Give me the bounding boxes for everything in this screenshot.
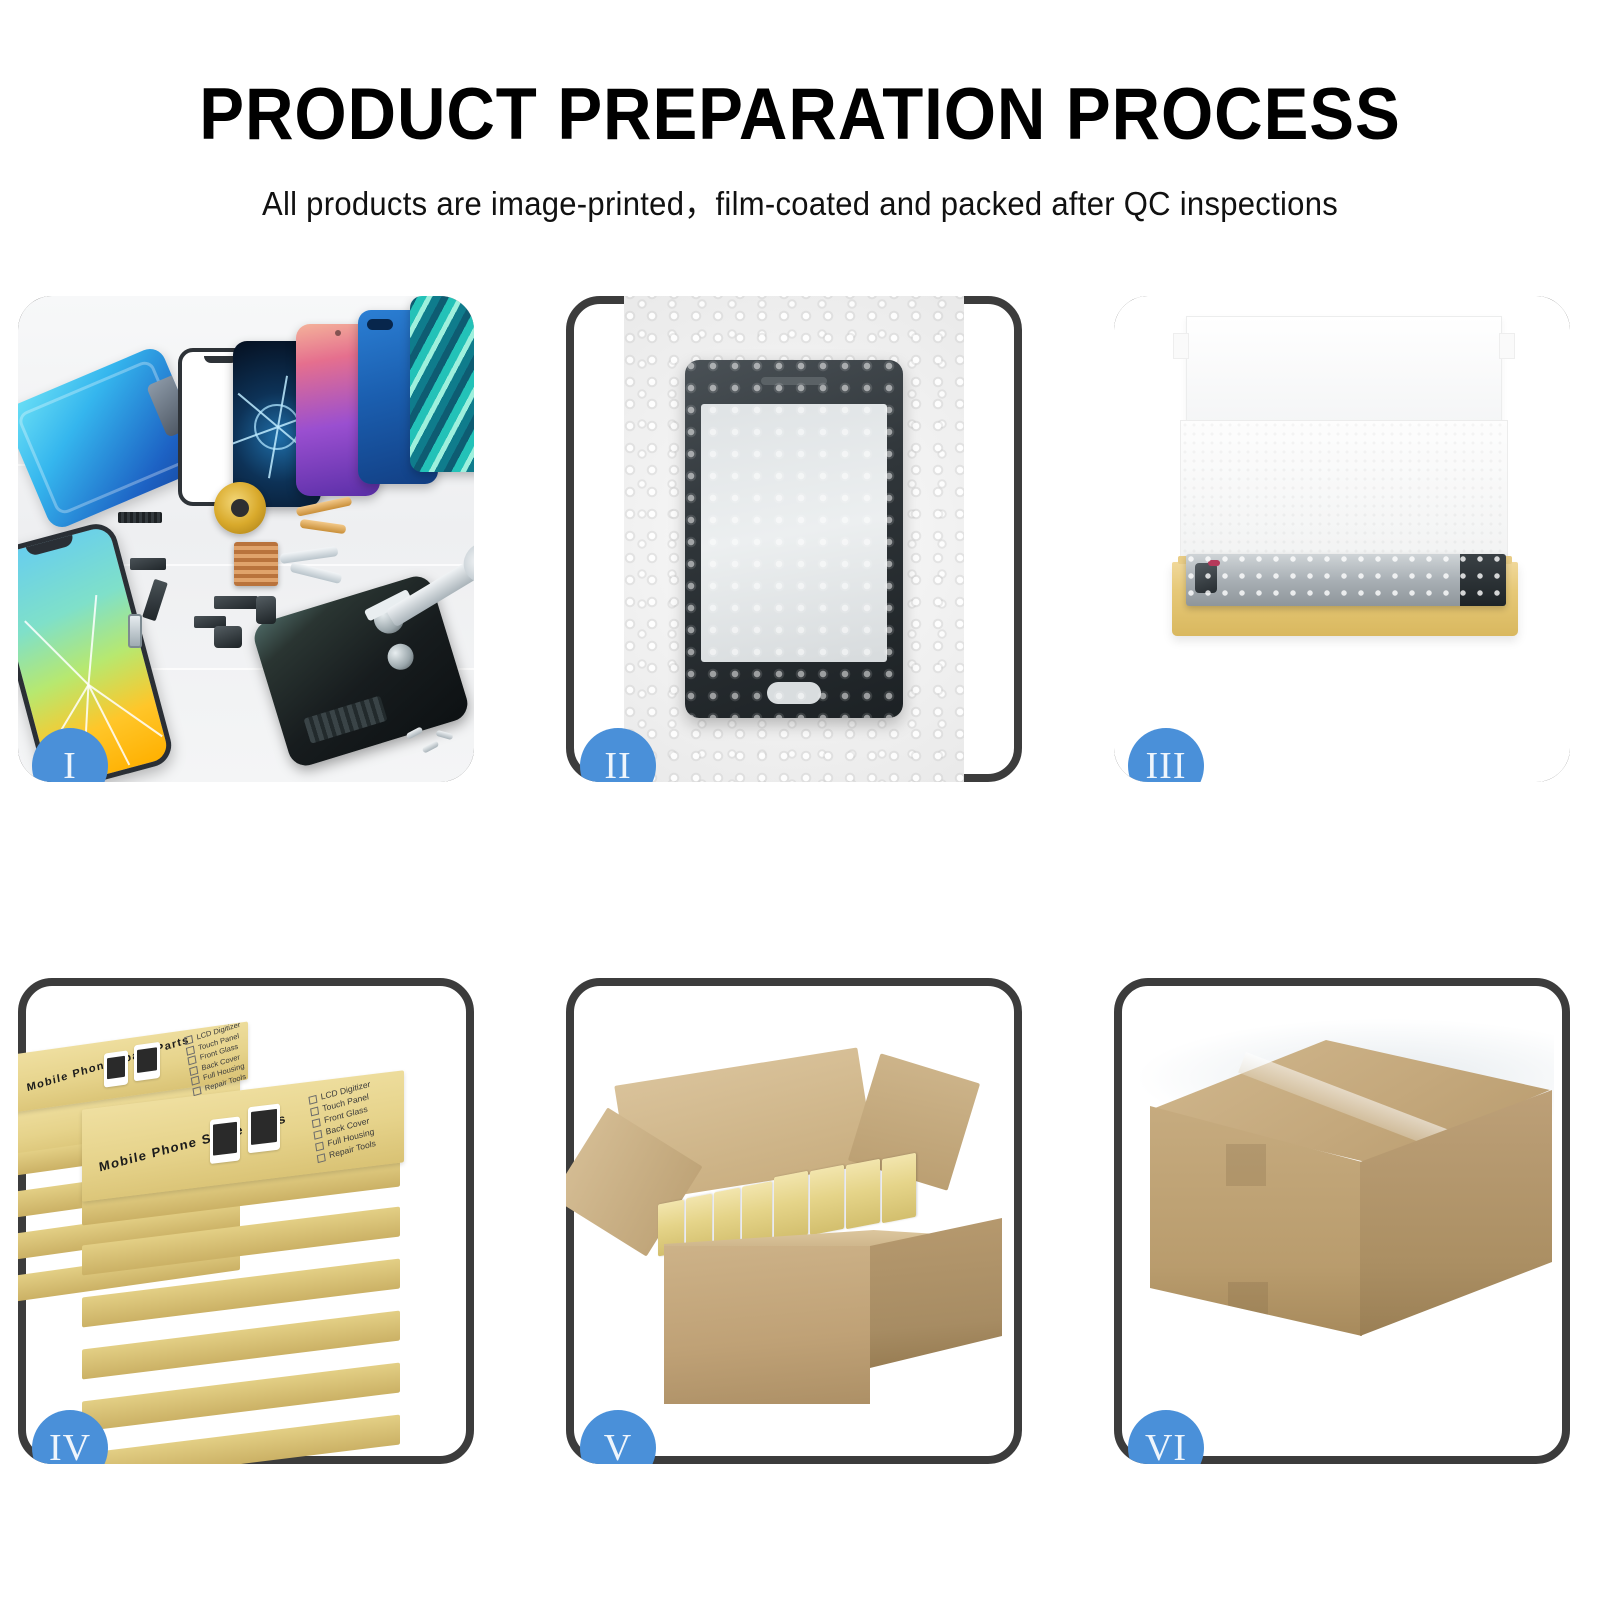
step-i-clip: I (18, 296, 474, 782)
retail-box-stack: Mobile Phone Spare Parts LCD Digitizer T… (18, 978, 474, 1464)
step-iii-clip: III (1114, 296, 1570, 782)
bubble-overlay (685, 360, 903, 718)
wireless-charging-coil-icon (214, 482, 266, 534)
header: PRODUCT PREPARATION PROCESS All products… (0, 78, 1600, 225)
page-title: PRODUCT PREPARATION PROCESS (64, 78, 1536, 151)
punch-hole-camera (367, 319, 393, 330)
mailer-box-lid (1186, 316, 1502, 426)
step-vi-photo (1114, 978, 1570, 1464)
step-card-iv: Mobile Phone Spare Parts LCD Digitizer T… (18, 978, 474, 1464)
step-v-clip: V (566, 978, 1022, 1464)
step-card-iii: III (1114, 296, 1570, 782)
speaker-module-icon (214, 626, 242, 648)
step-ii-photo (566, 296, 1022, 782)
step-card-vi: VI (1114, 978, 1570, 1464)
lid-tab (1499, 333, 1515, 359)
lid-tab (1173, 333, 1189, 359)
small-chip-part (214, 596, 258, 609)
red-marker-dot (1208, 560, 1220, 566)
sim-tray-icon (128, 614, 142, 648)
crack-line (88, 684, 163, 737)
carton-front-face (664, 1246, 870, 1404)
step-card-v: V (566, 978, 1022, 1464)
earpiece-mesh-part (118, 512, 162, 523)
step-vi-clip: VI (1114, 978, 1570, 1464)
step-ii-clip: II (566, 296, 1022, 782)
step-card-ii: II (566, 296, 1022, 782)
small-chip-part (130, 558, 166, 570)
connector-part (1195, 563, 1217, 593)
crack-line (87, 595, 97, 685)
vibration-motor-part (256, 596, 276, 624)
open-carton (566, 978, 1022, 1464)
process-step-grid: I II (18, 296, 1582, 1464)
foam-insert (1180, 420, 1508, 562)
teal-wave-phone (410, 296, 474, 472)
carton-seam-tab (1226, 1144, 1266, 1186)
bubble-wrap-backdrop (624, 296, 964, 782)
wrapped-screen-assembly (685, 360, 903, 718)
step-card-i: I (18, 296, 474, 782)
page-subtitle: All products are image-printed，film-coat… (48, 177, 1552, 225)
logic-board (303, 696, 387, 744)
step-iii-photo (1114, 296, 1570, 782)
retail-box-checklist: LCD Digitizer Touch Panel Front Glass Ba… (308, 1078, 379, 1164)
camera-lens-icon (384, 641, 416, 673)
step-iv-photo: Mobile Phone Spare Parts LCD Digitizer T… (18, 978, 474, 1464)
bga-chip-icon (234, 542, 278, 586)
wrapped-screen-in-box (1186, 554, 1506, 606)
step-i-photo (18, 296, 474, 782)
step-v-photo (566, 978, 1022, 1464)
infographic-page: PRODUCT PREPARATION PROCESS All products… (0, 0, 1600, 1600)
screen-end-cap (1460, 554, 1506, 606)
sealed-carton (1114, 978, 1570, 1464)
step-iv-clip: Mobile Phone Spare Parts LCD Digitizer T… (18, 978, 474, 1464)
carton-seam-tab (1228, 1282, 1268, 1324)
crack-line (24, 620, 89, 685)
screwdriver-bits (406, 730, 460, 760)
